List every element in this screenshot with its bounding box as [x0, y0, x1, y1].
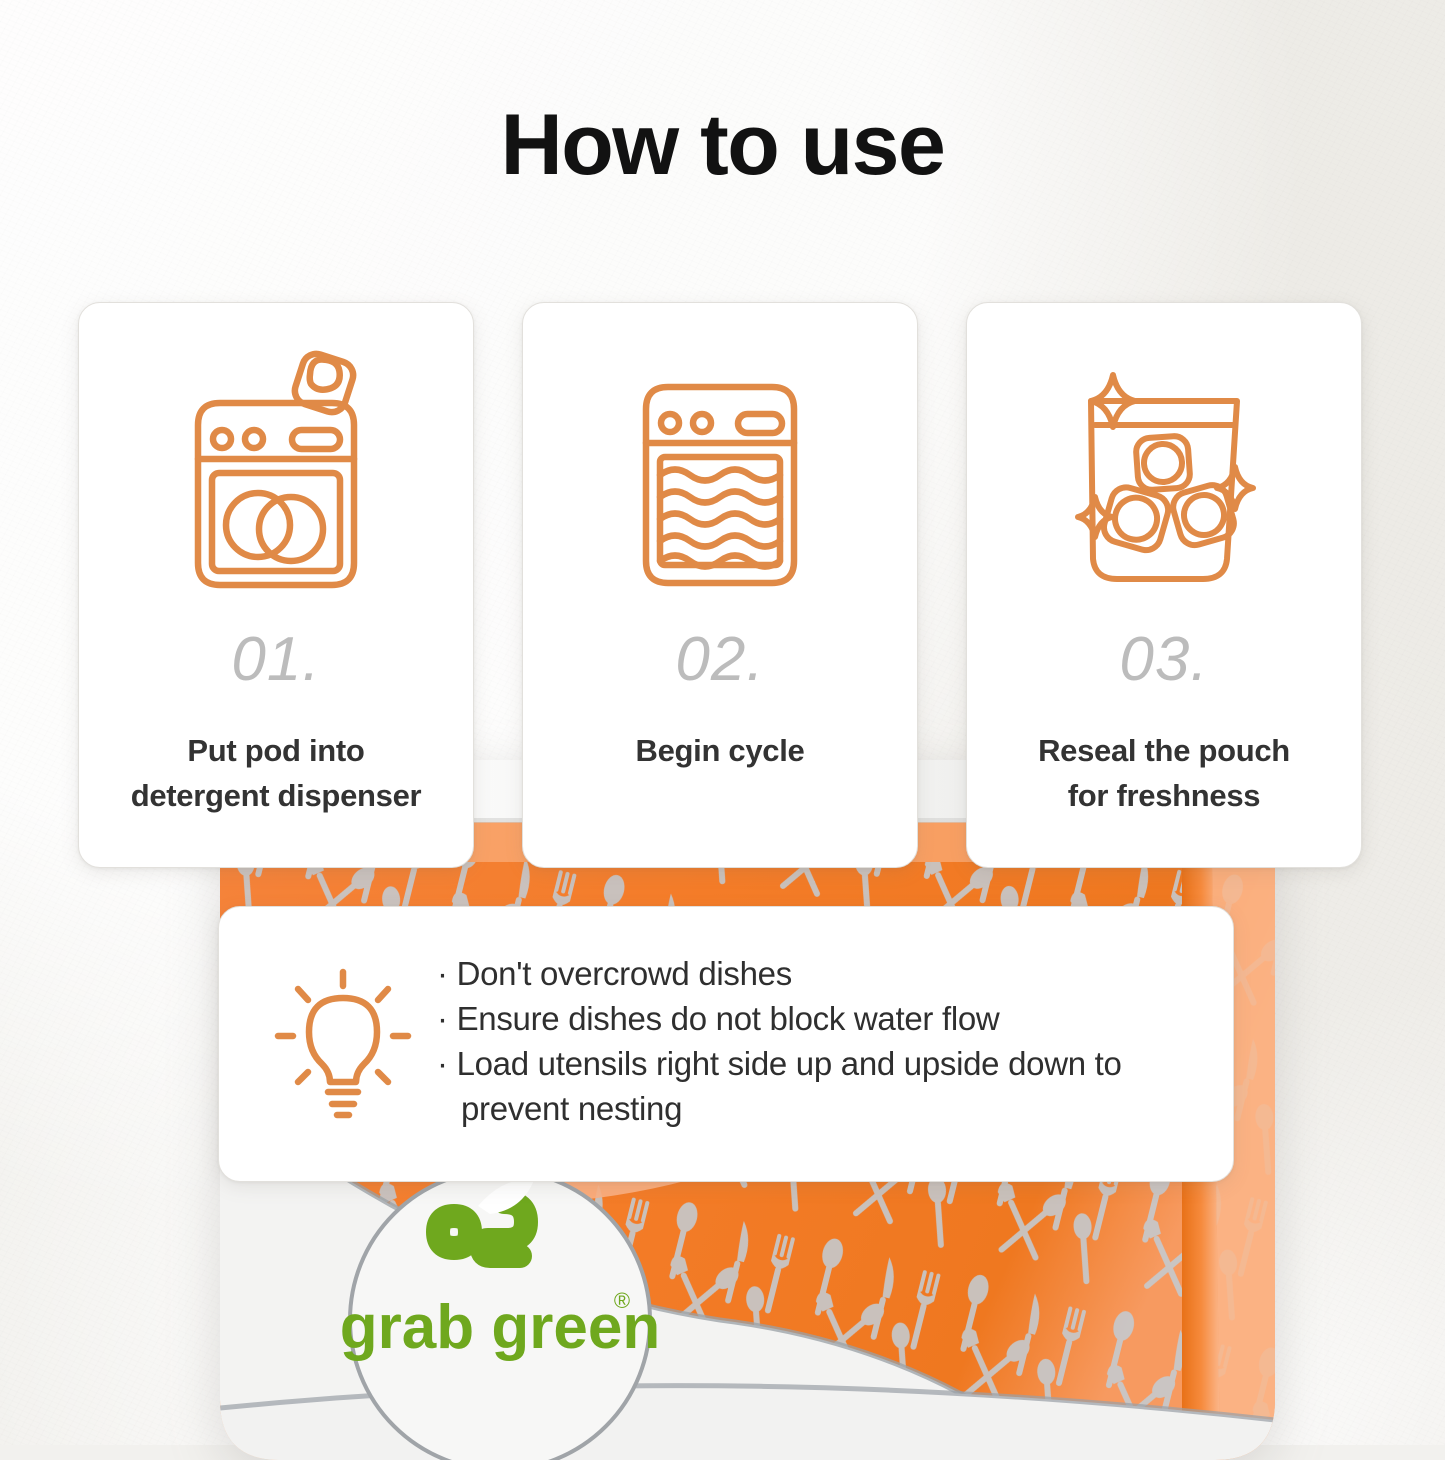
step-card-1: 01. Put pod into detergent dispenser: [78, 302, 474, 868]
page-title: How to use: [0, 96, 1445, 195]
lightbulb-icon: [253, 964, 433, 1124]
tip-item-3: · Load utensils right side up and upside…: [437, 1042, 1201, 1132]
step-label-2: Begin cycle: [629, 729, 810, 774]
tips-card: · Don't overcrowd dishes · Ensure dishes…: [218, 906, 1234, 1182]
tips-list: · Don't overcrowd dishes · Ensure dishes…: [433, 952, 1201, 1136]
step-number-1: 01.: [231, 629, 320, 691]
tip-bullet: ·: [437, 955, 448, 992]
tip-bullet: ·: [437, 1045, 448, 1082]
step-card-2: 02. Begin cycle: [522, 302, 918, 868]
brand-name-text: grab green: [340, 1293, 660, 1362]
step-label-3: Reseal the pouch for freshness: [1032, 729, 1296, 819]
dishwasher-running-icon: [620, 337, 820, 617]
step-label-1: Put pod into detergent dispenser: [125, 729, 428, 819]
step-number-3: 03.: [1119, 629, 1208, 691]
tip-item-2: · Ensure dishes do not block water flow: [437, 997, 1201, 1042]
step-card-3: 03. Reseal the pouch for freshness: [966, 302, 1362, 868]
tip-item-1: · Don't overcrowd dishes: [437, 952, 1201, 997]
tip-text-2: Ensure dishes do not block water flow: [457, 1000, 1000, 1037]
step-number-2: 02.: [675, 629, 764, 691]
tip-text-3: Load utensils right side up and upside d…: [457, 1045, 1122, 1127]
registered-mark: ®: [614, 1288, 630, 1313]
dishwasher-with-pod-icon: [176, 337, 376, 617]
tip-text-1: Don't overcrowd dishes: [457, 955, 792, 992]
resealable-pouch-with-pods-icon: [1059, 337, 1269, 617]
tip-bullet: ·: [437, 1000, 448, 1037]
